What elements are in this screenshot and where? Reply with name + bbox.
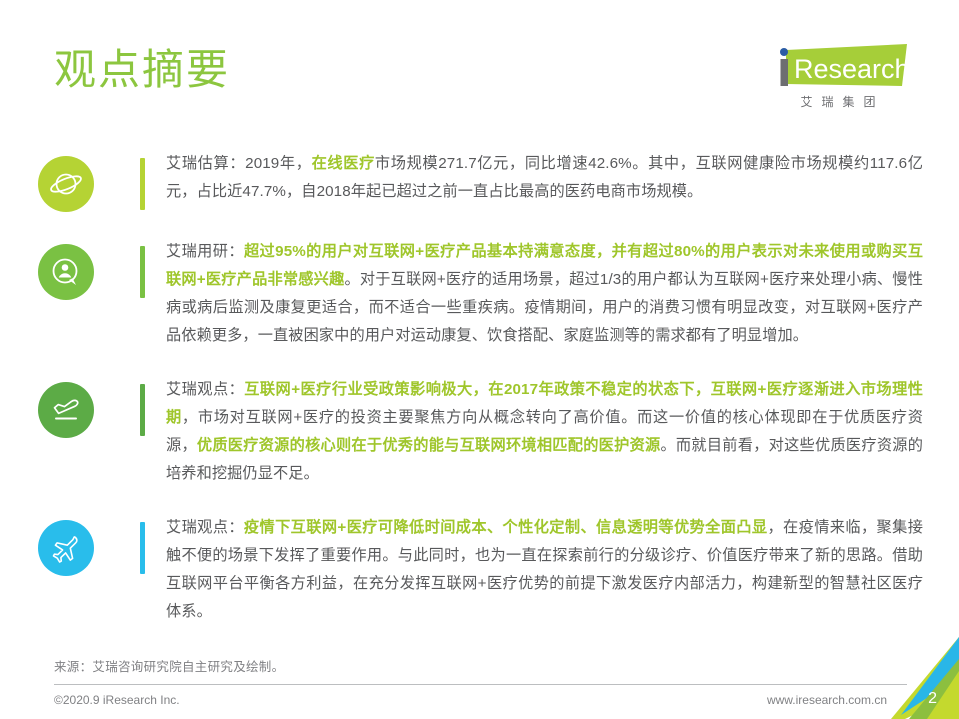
airplane-glyph <box>49 531 83 565</box>
run-highlight: 在线医疗 <box>312 155 375 172</box>
section-text: 艾瑞观点：互联网+医疗行业受政策影响极大，在2017年政策不稳定的状态下，互联网… <box>152 366 959 488</box>
accent-bar <box>140 384 145 436</box>
accent-bar <box>140 246 145 298</box>
accent-bar-column <box>132 366 152 436</box>
planet-glyph <box>49 167 83 201</box>
icon-column <box>0 140 132 212</box>
accent-bar-column <box>132 140 152 210</box>
user-speech-bubble-icon <box>38 244 94 300</box>
paragraph-lead: 艾瑞观点： <box>166 381 244 398</box>
corner-decoration-svg <box>875 637 959 719</box>
website-url[interactable]: www.iresearch.com.cn <box>767 693 887 707</box>
corner-decoration <box>875 637 959 719</box>
paragraph-lead: 艾瑞估算： <box>166 155 245 172</box>
icon-column <box>0 504 132 576</box>
section-row: 艾瑞观点：疫情下互联网+医疗可降低时间成本、个性化定制、信息透明等优势全面凸显，… <box>0 504 959 626</box>
paragraph: 艾瑞估算：2019年，在线医疗市场规模271.7亿元，同比增速42.6%。其中，… <box>166 150 923 206</box>
section-row: 艾瑞用研：超过95%的用户对互联网+医疗产品基本持满意态度，并有超过80%的用户… <box>0 228 959 350</box>
page-number: 2 <box>928 690 937 708</box>
svg-text:Research: Research <box>794 54 910 84</box>
section-text: 艾瑞用研：超过95%的用户对互联网+医疗产品基本持满意态度，并有超过80%的用户… <box>152 228 959 350</box>
footer-divider <box>54 684 907 685</box>
run-highlight: 疫情下互联网+医疗可降低时间成本、个性化定制、信息透明等优势全面凸显 <box>244 519 768 536</box>
airplane-takeoff-icon <box>38 382 94 438</box>
icon-column <box>0 228 132 300</box>
source-note: 来源：艾瑞咨询研究院自主研究及绘制。 <box>54 656 284 675</box>
accent-bar-column <box>132 504 152 574</box>
run-highlight: 优质医疗资源的核心则在于优秀的能与互联网环境相匹配的医护资源 <box>197 437 661 454</box>
slide: 观点摘要 Research 艾瑞集团 <box>0 0 959 719</box>
airplane-takeoff-glyph <box>49 393 83 427</box>
accent-bar <box>140 158 145 210</box>
section-text: 艾瑞观点：疫情下互联网+医疗可降低时间成本、个性化定制、信息透明等优势全面凸显，… <box>152 504 959 626</box>
copyright-text: ©2020.9 iResearch Inc. <box>54 693 180 707</box>
paragraph: 艾瑞观点：互联网+医疗行业受政策影响极大，在2017年政策不稳定的状态下，互联网… <box>166 376 923 488</box>
page-title: 观点摘要 <box>54 46 230 94</box>
sections-list: 艾瑞估算：2019年，在线医疗市场规模271.7亿元，同比增速42.6%。其中，… <box>0 140 959 642</box>
user-speech-bubble-glyph <box>49 255 83 289</box>
paragraph-lead: 艾瑞观点： <box>166 519 244 536</box>
run: 2019年， <box>245 155 311 172</box>
accent-bar <box>140 522 145 574</box>
paragraph-lead: 艾瑞用研： <box>166 243 244 260</box>
section-row: 艾瑞估算：2019年，在线医疗市场规模271.7亿元，同比增速42.6%。其中，… <box>0 140 959 212</box>
paragraph: 艾瑞用研：超过95%的用户对互联网+医疗产品基本持满意态度，并有超过80%的用户… <box>166 238 923 350</box>
logo-mark: Research <box>764 40 912 90</box>
section-text: 艾瑞估算：2019年，在线医疗市场规模271.7亿元，同比增速42.6%。其中，… <box>152 140 959 206</box>
iresearch-logo: Research 艾瑞集团 <box>764 40 912 110</box>
icon-column <box>0 366 132 438</box>
section-row: 艾瑞观点：互联网+医疗行业受政策影响极大，在2017年政策不稳定的状态下，互联网… <box>0 366 959 488</box>
airplane-icon <box>38 520 94 576</box>
planet-icon <box>38 156 94 212</box>
paragraph: 艾瑞观点：疫情下互联网+医疗可降低时间成本、个性化定制、信息透明等优势全面凸显，… <box>166 514 923 626</box>
logo-subtitle: 艾瑞集团 <box>764 93 912 110</box>
accent-bar-column <box>132 228 152 298</box>
logo-svg: Research <box>764 40 912 90</box>
